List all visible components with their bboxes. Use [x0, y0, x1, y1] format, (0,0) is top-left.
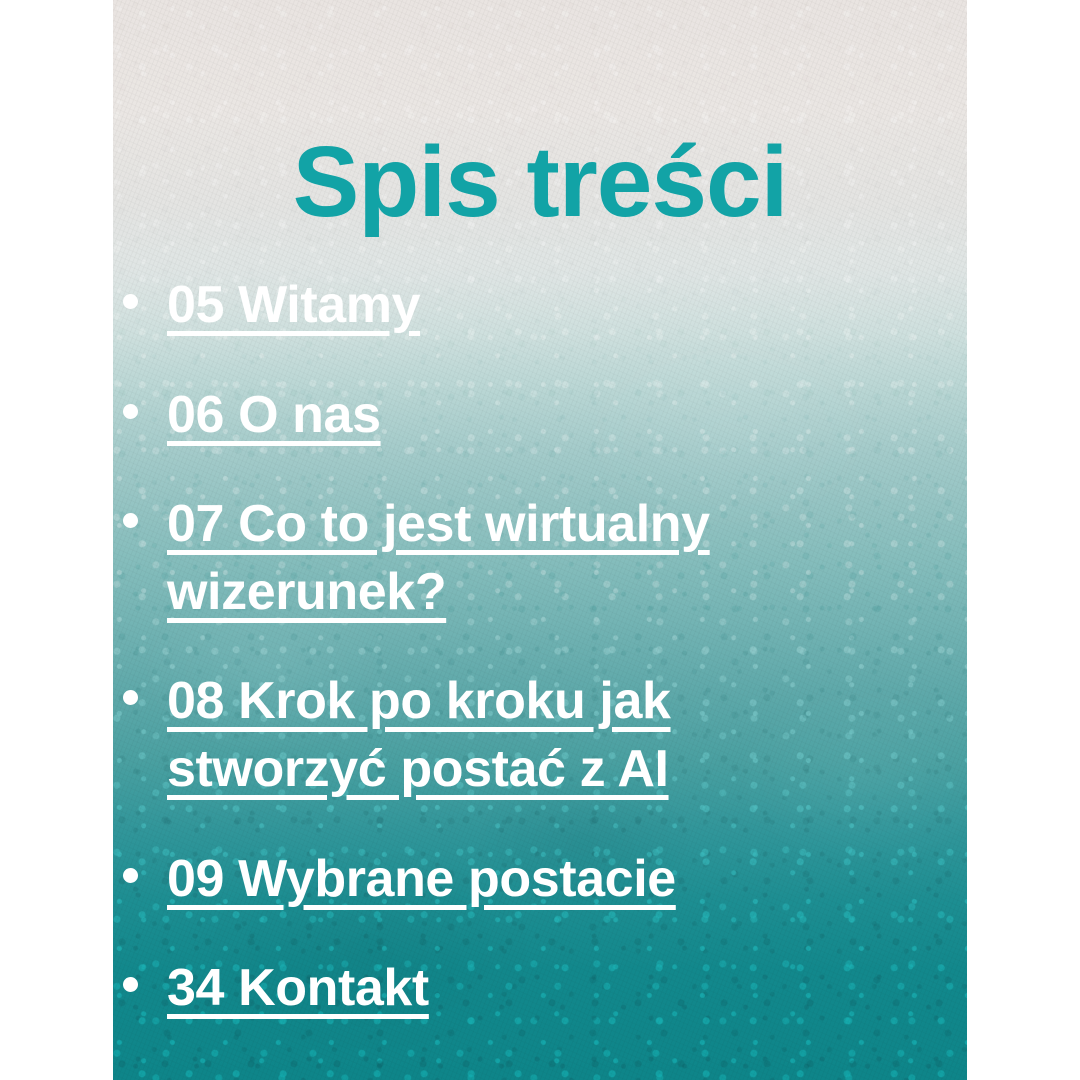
bullet-dot-icon: [123, 294, 138, 309]
page-title: Spis treści: [0, 129, 1080, 235]
toc-link-krok-po-kroku[interactable]: 08 Krok po kroku jak stworzyć postać z A…: [167, 672, 671, 798]
list-item[interactable]: 06 O nas: [115, 382, 845, 450]
bullet-dot-icon: [123, 977, 138, 992]
toc-link-wybrane-postacie[interactable]: 09 Wybrane postacie: [167, 850, 676, 908]
slide-canvas: Spis treści 05 Witamy 06 O nas 07 Co to …: [0, 0, 1080, 1080]
slide-content: Spis treści 05 Witamy 06 O nas 07 Co to …: [0, 0, 1080, 1080]
table-of-contents-list: 05 Witamy 06 O nas 07 Co to jest wirtual…: [115, 272, 845, 1023]
bullet-dot-icon: [123, 868, 138, 883]
toc-link-wirtualny-wizerunek[interactable]: 07 Co to jest wirtualny wizerunek?: [167, 495, 710, 621]
list-item[interactable]: 05 Witamy: [115, 272, 845, 340]
bullet-dot-icon: [123, 690, 138, 705]
bullet-dot-icon: [123, 404, 138, 419]
list-item[interactable]: 08 Krok po kroku jak stworzyć postać z A…: [115, 668, 845, 803]
list-item[interactable]: 09 Wybrane postacie: [115, 846, 845, 914]
toc-link-witamy[interactable]: 05 Witamy: [167, 276, 420, 334]
toc-link-o-nas[interactable]: 06 O nas: [167, 386, 381, 444]
list-item[interactable]: 07 Co to jest wirtualny wizerunek?: [115, 491, 845, 626]
toc-link-kontakt[interactable]: 34 Kontakt: [167, 959, 429, 1017]
bullet-dot-icon: [123, 513, 138, 528]
list-item[interactable]: 34 Kontakt: [115, 955, 845, 1023]
